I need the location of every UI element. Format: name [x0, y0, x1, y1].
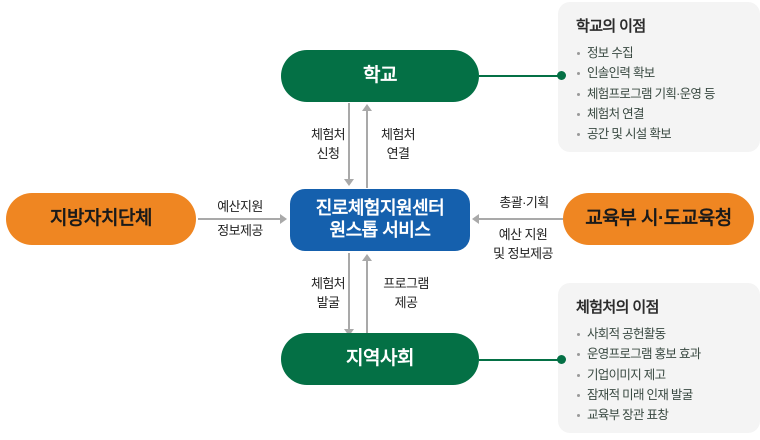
arrow-local-to-center-line [198, 218, 282, 220]
edge-label-program-line1: 프로그램 [372, 275, 440, 294]
edge-label-experience-discovery: 체험처 발굴 [300, 275, 356, 313]
edge-label-apply-line1: 체험처 [300, 126, 356, 145]
node-center-label-line2: 원스톱 서비스 [316, 220, 444, 242]
node-local-government[interactable]: 지방자치단체 [6, 193, 196, 245]
list-item: 잠재적 미래 인재 발굴 [576, 385, 744, 405]
arrow-ministry-to-center-head [472, 214, 479, 224]
list-item: 공간 및 시설 확보 [576, 124, 744, 144]
arrow-community-to-center-line [366, 260, 368, 338]
list-item: 운영프로그램 홍보 효과 [576, 344, 744, 364]
node-school-label: 학교 [363, 64, 397, 87]
edge-label-program-line2: 제공 [372, 294, 440, 313]
node-ministry-of-education[interactable]: 교육부 시·도교육청 [563, 193, 754, 245]
node-center-label-line1: 진로체험지원센터 [316, 198, 444, 218]
arrow-ministry-to-center-line [479, 218, 563, 220]
leader-dot-school-benefits [557, 71, 566, 80]
edge-label-discover-line1: 체험처 [300, 275, 356, 294]
diagram-canvas: 학교 진로체험지원센터 원스톱 서비스 지방자치단체 교육부 시·도교육청 지역… [0, 0, 760, 440]
info-box-school-title: 학교의 이점 [576, 15, 744, 36]
arrow-center-to-school-line [366, 110, 368, 188]
arrow-community-to-center-head [362, 254, 372, 261]
list-item: 인솔인력 확보 [576, 63, 744, 83]
edge-label-experience-application: 체험처 신청 [300, 126, 356, 164]
edge-label-apply-line2: 신청 [300, 145, 356, 164]
edge-label-program-provision: 프로그램 제공 [372, 275, 440, 313]
info-box-experience-list: 사회적 공헌활동 운영프로그램 홍보 효과 기업이미지 제고 잠재적 미래 인재… [576, 324, 744, 425]
edge-label-information-provision: 정보제공 [203, 222, 277, 241]
info-box-experience-site-benefits: 체험처의 이점 사회적 공헌활동 운영프로그램 홍보 효과 기업이미지 제고 잠… [558, 283, 760, 433]
edge-label-connect-line1: 체험처 [370, 126, 426, 145]
list-item: 체험처 연결 [576, 104, 744, 124]
edge-label-budget-support: 예산지원 [203, 198, 277, 217]
list-item: 체험프로그램 기획·운영 등 [576, 84, 744, 104]
edge-label-supervision-planning: 총괄·기획 [486, 194, 562, 213]
edge-label-connect-line2: 연결 [370, 145, 426, 164]
node-community-label: 지역사회 [346, 347, 414, 370]
info-box-school-benefits: 학교의 이점 정보 수집 인솔인력 확보 체험프로그램 기획·운영 등 체험처 … [558, 2, 760, 152]
edge-label-experience-connection: 체험처 연결 [370, 126, 426, 164]
arrow-local-to-center-head [280, 214, 287, 224]
edge-label-discover-line2: 발굴 [300, 294, 356, 313]
list-item: 사회적 공헌활동 [576, 324, 744, 344]
list-item: 기업이미지 제고 [576, 365, 744, 385]
edge-label-budget-and-info: 예산 지원 및 정보제공 [480, 226, 566, 264]
info-box-experience-title: 체험처의 이점 [576, 296, 744, 317]
arrow-center-to-school-head [362, 104, 372, 111]
edge-label-support-line2: 및 정보제공 [480, 245, 566, 264]
node-local-community[interactable]: 지역사회 [281, 333, 479, 385]
leader-line-community-to-benefits [479, 359, 564, 361]
node-ministry-label: 교육부 시·도교육청 [585, 207, 731, 230]
arrow-school-to-center-head [344, 179, 354, 186]
leader-dot-community-benefits [557, 355, 566, 364]
info-box-school-list: 정보 수집 인솔인력 확보 체험프로그램 기획·운영 등 체험처 연결 공간 및… [576, 43, 744, 144]
list-item: 정보 수집 [576, 43, 744, 63]
node-school[interactable]: 학교 [281, 50, 479, 102]
node-career-experience-center[interactable]: 진로체험지원센터 원스톱 서비스 [290, 189, 470, 251]
node-local-label: 지방자치단체 [50, 207, 152, 230]
edge-label-support-line1: 예산 지원 [480, 226, 566, 245]
leader-line-school-to-benefits [479, 75, 564, 77]
list-item: 교육부 장관 표창 [576, 405, 744, 425]
